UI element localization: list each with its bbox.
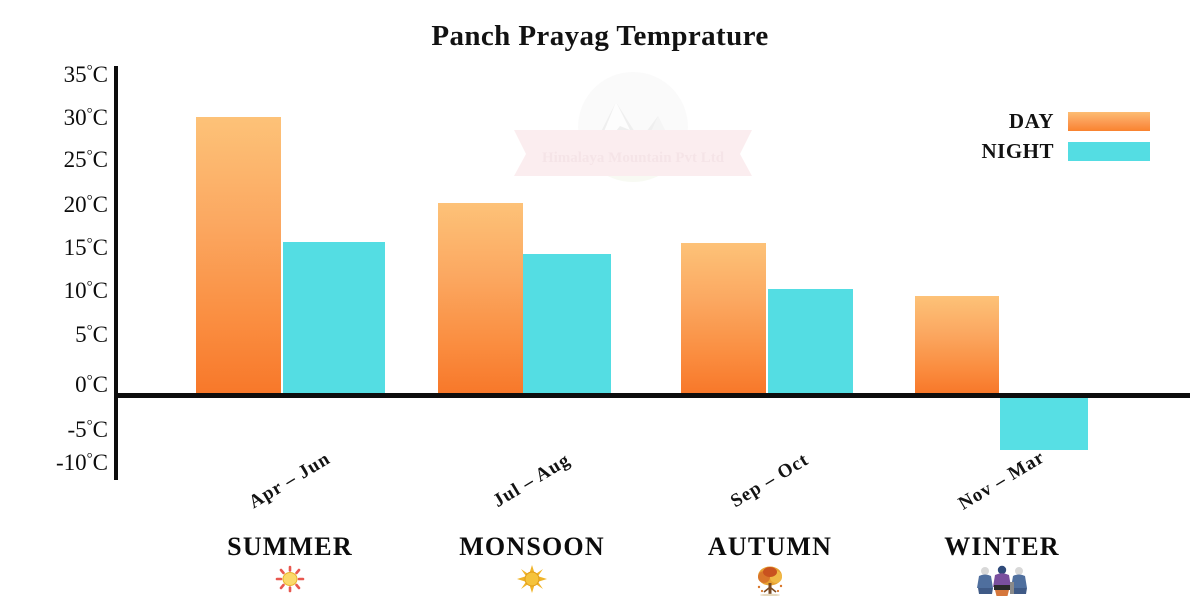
legend: DAY NIGHT: [960, 108, 1150, 168]
sun-icon: [412, 564, 652, 602]
legend-label-night: NIGHT: [981, 139, 1054, 164]
category-season-summer: SUMMER: [170, 532, 410, 562]
bar-monsoon-night[interactable]: [523, 254, 611, 393]
legend-swatch-day-icon: [1068, 112, 1150, 131]
category-season-winter: WINTER: [882, 532, 1122, 562]
category-season-autumn: AUTUMN: [650, 532, 890, 562]
legend-item-night[interactable]: NIGHT: [960, 138, 1150, 164]
people-warming-icon: [882, 564, 1122, 604]
sun-icon: [170, 564, 410, 602]
autumn-tree-icon: [650, 564, 890, 604]
bar-autumn-night[interactable]: [768, 289, 853, 393]
bar-autumn-day[interactable]: [681, 243, 766, 393]
legend-item-day[interactable]: DAY: [960, 108, 1150, 134]
temperature-bar-chart: Panch Prayag Temprature Himalaya Mountai…: [0, 0, 1200, 600]
category-season-monsoon: MONSOON: [412, 532, 652, 562]
bar-winter-day[interactable]: [915, 296, 999, 393]
legend-label-day: DAY: [1009, 109, 1054, 134]
legend-swatch-night-icon: [1068, 142, 1150, 161]
bar-summer-day[interactable]: [196, 117, 281, 393]
bar-summer-night[interactable]: [283, 242, 385, 393]
bar-monsoon-day[interactable]: [438, 203, 523, 393]
plot-area: [0, 0, 1200, 600]
